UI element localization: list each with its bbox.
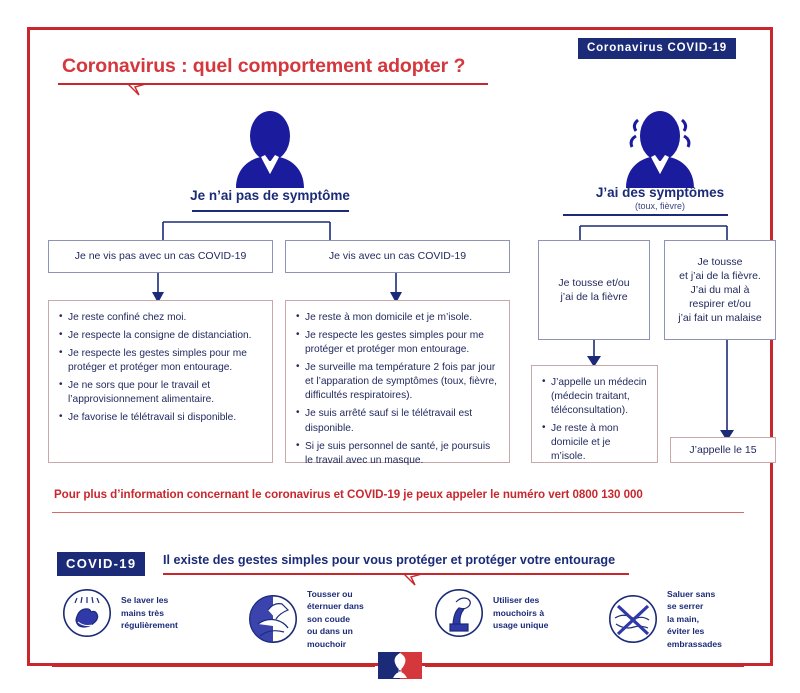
list-item: Je reste à mon domicile et je m’isole. [296,311,499,325]
footer-rule-right [425,665,744,667]
list-item: Je respecte les gestes simples pour me p… [59,347,262,375]
left-answer-2-list: Je reste à mon domicile et je m’isole. J… [296,311,499,468]
right-branch-heading-rule [563,214,728,216]
no-handshake-icon [608,594,658,644]
list-item: Je respecte la consigne de distanciation… [59,329,262,343]
title-underline [58,83,488,85]
badge-covid19-gestures: COVID-19 [57,552,145,576]
gestures-arrow-icon [404,574,426,588]
green-number-underline [52,512,744,513]
list-item: Je reste à mon domicile et je m’isole. [542,422,647,464]
person-with-symptoms-icon [618,110,702,188]
gesture-wash-hands-label: Se laver les mains très régulièrement [121,594,178,631]
right-branch-heading: J’ai des symptômes (toux, fièvre) [530,185,790,211]
title-arrow-icon [128,84,150,98]
right-question-box-2[interactable]: Je tousse et j’ai de la fièvre. J’ai du … [664,240,776,340]
person-no-symptoms-icon [228,110,312,188]
gestures-title-underline [163,573,629,575]
right-question-1-text: Je tousse et/ou j’ai de la fièvre [558,276,629,304]
list-item: Je ne sors que pour le travail et l’appr… [59,379,262,407]
badge-coronavirus-covid19: Coronavirus COVID-19 [578,38,736,59]
left-branch-heading: Je n’ai pas de symptôme [140,188,400,203]
gesture-single-use-tissue: Utiliser des mouchoirs à usage unique [434,588,548,638]
cough-elbow-icon [248,594,298,644]
list-item: Je reste confiné chez moi. [59,311,262,325]
right-answer-box-1: J’appelle un médecin (médecin traitant, … [531,365,658,463]
gesture-single-use-tissue-label: Utiliser des mouchoirs à usage unique [493,594,548,631]
gesture-no-handshake: Saluer sans se serrer la main, éviter le… [608,588,722,650]
left-answer-1-list: Je reste confiné chez moi. Je respecte l… [59,311,262,426]
right-result-text: J’appelle le 15 [689,443,756,457]
footer-rule-left [52,665,375,667]
list-item: Je surveille ma température 2 fois par j… [296,361,499,403]
infographic-poster: Coronavirus : quel comportement adopter … [0,0,800,693]
green-number-info-line: Pour plus d’information concernant le co… [54,488,643,501]
right-question-2-text: Je tousse et j’ai de la fièvre. J’ai du … [678,255,761,326]
list-item: Si je suis personnel de santé, je poursu… [296,440,499,468]
list-item: Je respecte les gestes simples pour me p… [296,329,499,357]
left-question-2-text: Je vis avec un cas COVID-19 [329,249,466,263]
page-title: Coronavirus : quel comportement adopter … [62,55,465,78]
gestures-section-title: Il existe des gestes simples pour vous p… [163,553,615,567]
gesture-cough-elbow: Tousser ou éternuer dans son coude ou da… [248,588,364,650]
left-question-1-text: Je ne vis pas avec un cas COVID-19 [75,249,247,263]
right-answer-1-list: J’appelle un médecin (médecin traitant, … [542,376,647,464]
left-question-box-2[interactable]: Je vis avec un cas COVID-19 [285,240,510,273]
list-item: J’appelle un médecin (médecin traitant, … [542,376,647,418]
list-item: Je favorise le télétravail si disponible… [59,411,262,425]
left-question-box-1[interactable]: Je ne vis pas avec un cas COVID-19 [48,240,273,273]
tissue-icon [434,588,484,638]
right-result-box: J’appelle le 15 [670,437,776,463]
left-branch-heading-text: Je n’ai pas de symptôme [190,188,350,203]
left-branch-heading-rule [192,210,349,212]
list-item: Je suis arrêté sauf si le télétravail es… [296,407,499,435]
left-answer-box-2: Je reste à mon domicile et je m’isole. J… [285,300,510,463]
gesture-cough-elbow-label: Tousser ou éternuer dans son coude ou da… [307,588,364,650]
wash-hands-icon [62,588,112,638]
gesture-no-handshake-label: Saluer sans se serrer la main, éviter le… [667,588,722,650]
right-branch-heading-text: J’ai des symptômes [596,185,724,200]
right-branch-heading-sub: (toux, fièvre) [530,201,790,211]
right-question-box-1[interactable]: Je tousse et/ou j’ai de la fièvre [538,240,650,340]
gesture-wash-hands: Se laver les mains très régulièrement [62,588,178,638]
left-answer-box-1: Je reste confiné chez moi. Je respecte l… [48,300,273,463]
republique-francaise-marianne-logo [378,652,422,679]
